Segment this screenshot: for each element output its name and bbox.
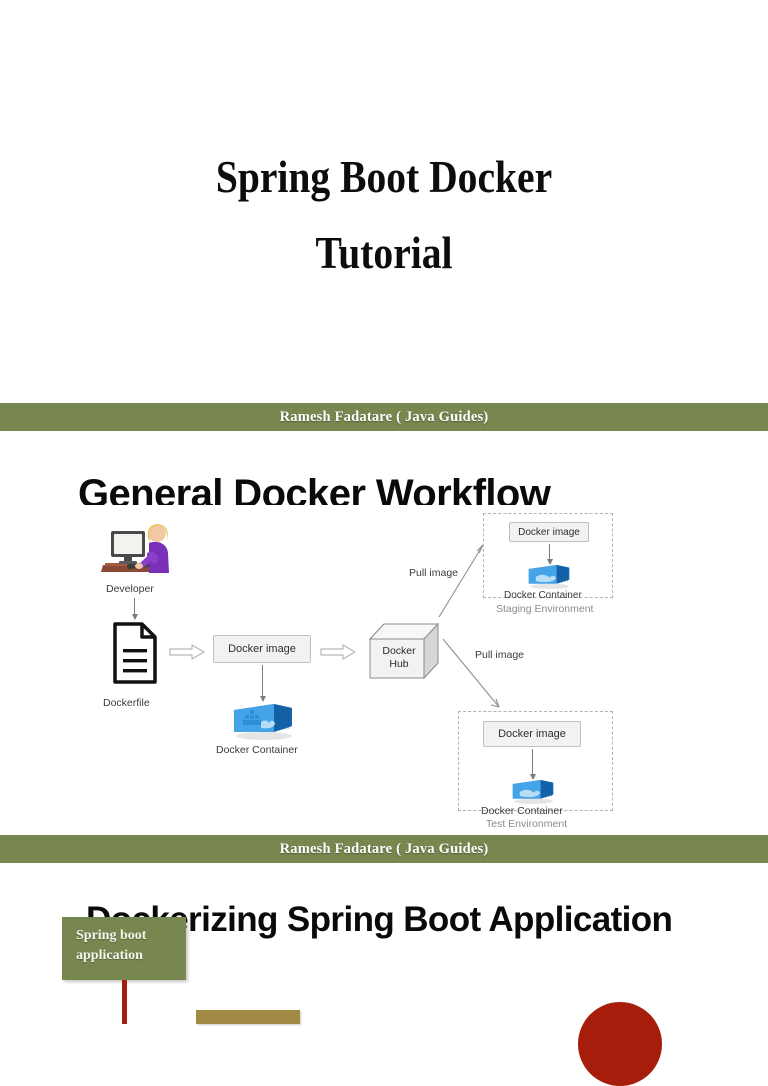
dockerfile-label: Dockerfile — [103, 697, 150, 709]
title-slide: Spring Boot Docker Tutorial — [0, 0, 768, 403]
staging-docker-container-icon — [526, 561, 572, 589]
arrow-image-to-hub — [320, 644, 356, 660]
author-banner-label-2: Ramesh Fadatare ( Java Guides) — [280, 841, 489, 858]
docker-hub-box: Docker Hub — [368, 621, 444, 683]
tan-box-partial — [196, 1010, 300, 1024]
red-connector-line — [122, 980, 127, 1024]
spring-boot-application-box: Spring boot application — [62, 917, 186, 980]
test-docker-container-label: Docker Container — [481, 805, 563, 817]
author-banner-dockerizing: Ramesh Fadatare ( Java Guides) — [0, 835, 768, 863]
staging-docker-image-box: Docker image — [509, 522, 589, 542]
spring-boot-box-line-1: Spring boot — [76, 928, 146, 943]
arrow-dockerfile-to-image — [169, 644, 205, 660]
developer-icon — [97, 519, 177, 577]
red-circle-partial — [578, 1002, 662, 1086]
deck-title-line-2: Tutorial — [54, 215, 714, 291]
test-environment-caption: Test Environment — [486, 818, 567, 830]
docker-hub-line-2: Hub — [389, 658, 408, 670]
staging-docker-container-label: Docker Container — [504, 590, 582, 601]
page-title: Spring Boot Docker Tutorial — [54, 139, 714, 291]
arrow-hub-to-staging — [435, 541, 489, 621]
dockerizing-slide: Dockerizing Spring Boot Application Spri… — [0, 863, 768, 1024]
developer-label: Developer — [106, 583, 154, 595]
staging-environment-caption: Staging Environment — [496, 603, 593, 615]
spring-boot-box-line-2: application — [76, 948, 143, 963]
arrow-staging-image-to-container — [549, 544, 550, 560]
author-banner-label: Ramesh Fadatare ( Java Guides) — [280, 409, 489, 426]
test-docker-container-icon — [510, 776, 556, 804]
docker-container-icon-main — [230, 698, 296, 740]
author-banner-workflow: Ramesh Fadatare ( Java Guides) — [0, 403, 768, 431]
arrow-test-image-to-container — [532, 749, 533, 775]
arrow-developer-to-dockerfile — [134, 598, 135, 615]
test-docker-image-box: Docker image — [483, 721, 581, 747]
general-docker-workflow-diagram: Developer Dockerfile Docker image — [83, 505, 616, 825]
docker-hub-line-1: Docker — [382, 645, 415, 657]
arrow-image-to-container — [262, 665, 263, 697]
docker-container-label-main: Docker Container — [216, 744, 298, 756]
docker-image-box-main: Docker image — [213, 635, 311, 663]
deck-title-line-1: Spring Boot Docker — [216, 151, 552, 202]
arrow-hub-to-test — [441, 637, 505, 713]
workflow-slide: General Docker Workflow — [0, 431, 768, 835]
dockerfile-icon — [111, 621, 159, 686]
